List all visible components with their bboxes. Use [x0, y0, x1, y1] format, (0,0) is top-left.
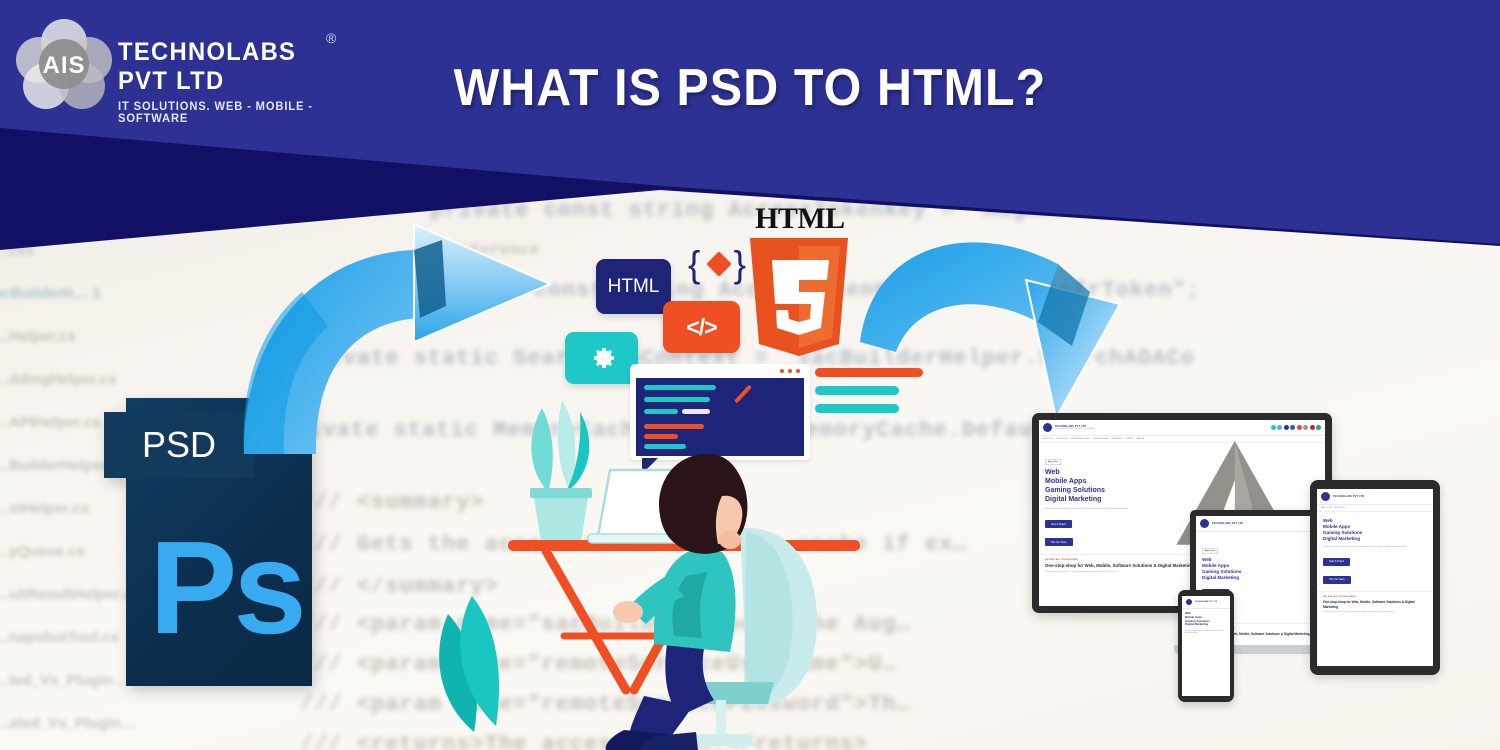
site-logo-icon [1321, 492, 1330, 501]
code-tag-label: </> [686, 314, 716, 341]
file-list-item: acBuilderH… 1 [0, 285, 204, 302]
site-logo-icon [1200, 519, 1209, 528]
site-topbar: TECHNOLABS PVT LTD [1182, 596, 1230, 609]
hero-heading: Web Mobile Apps Gaming Solutions Digital… [1323, 518, 1427, 542]
hero-line: Digital Marketing [1045, 496, 1101, 503]
file-list-item: …Helper.cs [0, 328, 204, 345]
hero-subtext: Unlock innovative solutions to nurture t… [1185, 631, 1227, 636]
nav-item[interactable]: ABOUT US [1043, 438, 1053, 440]
page-title: WHAT IS PSD TO HTML? [53, 58, 1448, 118]
site-nav[interactable]: ABOUT US PORTFOLIO [1317, 505, 1433, 512]
website-preview: TECHNOLABS PVT LTD Web Mobile Apps Gamin… [1182, 596, 1230, 696]
brace-right: } [734, 244, 746, 286]
banner-image: private const string AccessTokenKey = "A… [0, 0, 1500, 750]
hero-line: Web [1045, 469, 1060, 476]
site-brand-block: TECHNOLABS PVT LTD IT SOLUTIONS. WEB - M… [1055, 425, 1095, 430]
plant-pot [534, 498, 588, 542]
phone-screen: TECHNOLABS PVT LTD Web Mobile Apps Gamin… [1182, 596, 1230, 696]
chair-base [688, 734, 756, 746]
planter-rim [530, 488, 592, 498]
curly-braces-icon: { } [688, 244, 746, 286]
site-brand-name: TECHNOLABS PVT LTD [1333, 495, 1364, 498]
site-hero: Web Mobile Apps Gaming Solutions Digital… [1182, 609, 1230, 639]
hero-heading: Web Mobile Apps Gaming Solutions Digital… [1185, 612, 1227, 627]
leaf-icon [531, 408, 552, 492]
hero-line: Digital Marketing [1185, 622, 1208, 626]
code-tag-chip: </> [663, 301, 740, 353]
section-heading: One-stop-shop for Web, Mobile, Software … [1323, 600, 1427, 609]
gear-icon [587, 343, 617, 373]
file-list-item: …ddingHelper.cs [0, 371, 204, 388]
nav-item[interactable]: PORTFOLIO [1334, 507, 1346, 509]
html-chip-label: HTML [608, 276, 660, 298]
nav-item[interactable]: PORTFOLIO [1056, 438, 1068, 440]
html5-wordmark: HTML [755, 202, 845, 236]
html-chip: HTML [596, 259, 671, 314]
file-list-item: …ated_Vs_Plugin… [0, 715, 204, 732]
section-body: Tell your idea and we will turn it into … [1323, 611, 1427, 614]
hiring-badge[interactable]: Apply Now [1202, 548, 1218, 554]
developer-working-illustration [430, 400, 900, 750]
site-logo-icon [1186, 599, 1192, 605]
brace-left: { [688, 244, 700, 286]
html5-shield-icon [746, 236, 852, 358]
site-about-section: WE ARE AIS TECHNOLABS One-stop-shop for … [1317, 591, 1433, 618]
hero-line: Web [1202, 557, 1212, 562]
website-preview: TECHNOLABS PVT LTD ABOUT US PORTFOLIO We… [1317, 489, 1433, 666]
registered-trademark-icon: ® [326, 30, 336, 46]
site-brand-block: TECHNOLABS PVT LTD [1212, 522, 1243, 525]
nav-item[interactable]: CLIENTS [1125, 438, 1133, 440]
psd-tab-label: PSD [142, 424, 216, 466]
hero-line: Mobile Apps [1323, 524, 1350, 529]
photoshop-ps-label: Ps [140, 498, 312, 678]
side-bar [815, 386, 899, 395]
nav-item[interactable]: ABOUT US [1321, 507, 1331, 509]
nav-item[interactable]: HIRE US [1136, 438, 1144, 440]
tablet-screen: TECHNOLABS PVT LTD ABOUT US PORTFOLIO We… [1317, 489, 1433, 666]
hero-line: Gaming Solutions [1045, 487, 1105, 494]
hire-team-button[interactable]: Hire Our Team [1323, 576, 1351, 584]
person-hand [613, 601, 643, 623]
responsive-device-mockups: TECHNOLABS PVT LTD IT SOLUTIONS. WEB - M… [1010, 405, 1450, 715]
section-kicker: WE ARE AIS TECHNOLABS [1323, 596, 1427, 598]
hero-line: Digital Marketing [1323, 536, 1360, 541]
site-brand-tagline: IT SOLUTIONS. WEB - MOBILE - SOFTWARE [1055, 428, 1095, 430]
hiring-badge[interactable]: Apply Now [1045, 459, 1061, 465]
nav-item[interactable]: SERVICES [1112, 438, 1122, 440]
hero-line: Mobile Apps [1045, 478, 1086, 485]
site-social-icons[interactable] [1271, 425, 1322, 430]
nav-item[interactable]: TECHNOLOGIES [1093, 438, 1109, 440]
hero-line: Digital Marketing [1202, 575, 1239, 580]
code-bar [644, 385, 716, 390]
window-dots [780, 369, 800, 373]
person-ear [719, 531, 741, 549]
hero-line: Gaming Solutions [1202, 569, 1241, 574]
start-project-button[interactable]: Start A Project [1323, 558, 1350, 566]
hero-line: Web [1323, 518, 1333, 523]
site-logo-icon [1043, 423, 1052, 432]
site-brand-name: TECHNOLABS PVT LTD [1212, 522, 1243, 525]
hero-line: Gaming Solutions [1323, 530, 1362, 535]
site-brand-name: TECHNOLABS PVT LTD [1195, 601, 1217, 603]
diamond-dot-icon [706, 251, 731, 276]
settings-chip [565, 332, 638, 384]
site-hero: Web Mobile Apps Gaming Solutions Digital… [1317, 512, 1433, 591]
site-topbar: TECHNOLABS PVT LTD [1317, 489, 1433, 505]
hero-line: Mobile Apps [1202, 563, 1229, 568]
tablet-mockup: TECHNOLABS PVT LTD ABOUT US PORTFOLIO We… [1310, 480, 1440, 675]
nav-item[interactable]: HIRE DEVELOPERS [1071, 438, 1090, 440]
hero-heading: Web Mobile Apps Gaming Solutions Digital… [1045, 468, 1319, 504]
start-project-button[interactable]: Start A Project [1045, 520, 1072, 528]
hire-team-button[interactable]: Hire Our Team [1045, 538, 1073, 546]
smartphone-mockup: TECHNOLABS PVT LTD Web Mobile Apps Gamin… [1178, 590, 1234, 702]
side-bar [815, 368, 923, 377]
